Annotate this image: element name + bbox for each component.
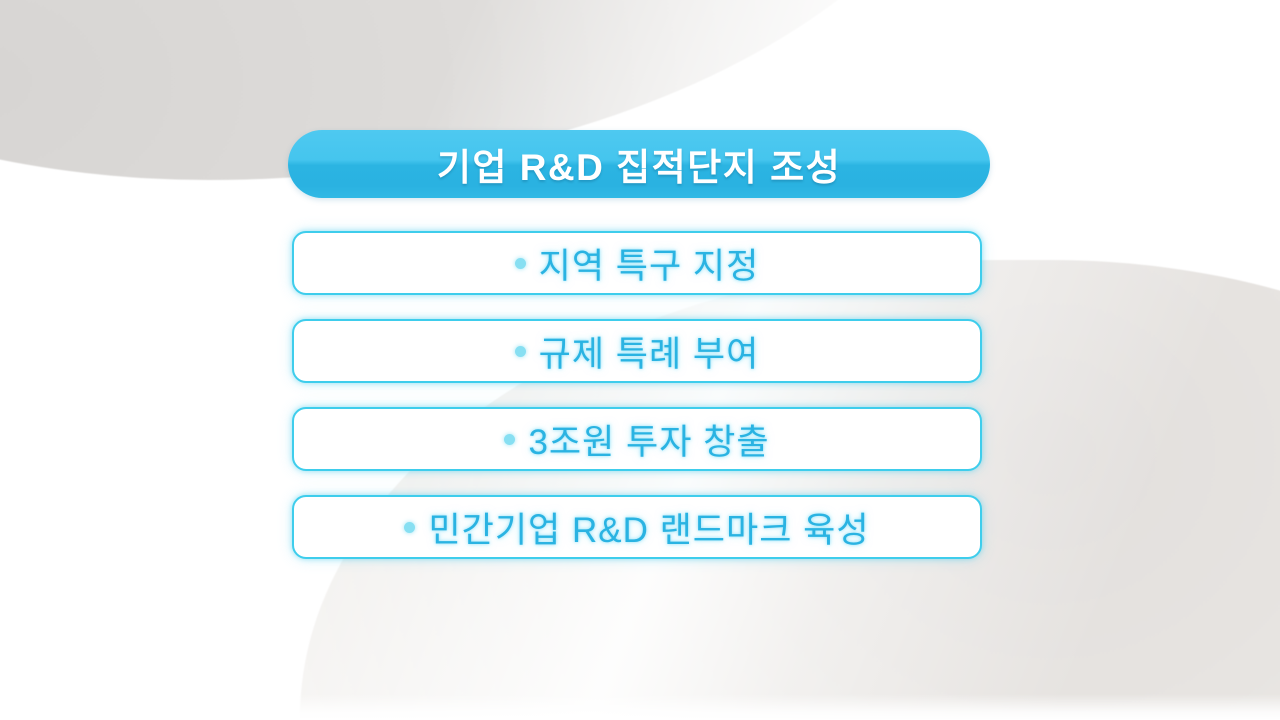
bullet-label: 3조원 투자 창출 bbox=[528, 414, 769, 465]
bullet-row: 민간기업 R&D 랜드마크 육성 bbox=[404, 502, 869, 553]
bullet-row: 규제 특례 부여 bbox=[515, 326, 760, 377]
bullet-label: 민간기업 R&D 랜드마크 육성 bbox=[428, 502, 869, 553]
bullet-label: 규제 특례 부여 bbox=[539, 326, 760, 377]
bullet-row: 지역 특구 지정 bbox=[515, 238, 760, 289]
list-item: 민간기업 R&D 랜드마크 육성 bbox=[292, 495, 982, 559]
slide-title-banner: 기업 R&D 집적단지 조성 bbox=[288, 130, 990, 198]
broadcast-slide: 기업 R&D 집적단지 조성 지역 특구 지정 규제 특례 부여 3조원 투자 … bbox=[0, 0, 1280, 720]
ktv-channel-logo bbox=[1060, 48, 1208, 110]
bullet-row: 3조원 투자 창출 bbox=[504, 414, 769, 465]
bullet-label: 지역 특구 지정 bbox=[539, 238, 760, 289]
list-item: 지역 특구 지정 bbox=[292, 231, 982, 295]
bullet-dot-icon bbox=[404, 522, 415, 533]
bullet-dot-icon bbox=[504, 434, 515, 445]
page-title: 기업 R&D 집적단지 조성 bbox=[437, 137, 841, 191]
bullet-dot-icon bbox=[515, 258, 526, 269]
list-item: 3조원 투자 창출 bbox=[292, 407, 982, 471]
bullet-dot-icon bbox=[515, 346, 526, 357]
list-item: 규제 특례 부여 bbox=[292, 319, 982, 383]
background-bottom-fade bbox=[0, 694, 1280, 720]
